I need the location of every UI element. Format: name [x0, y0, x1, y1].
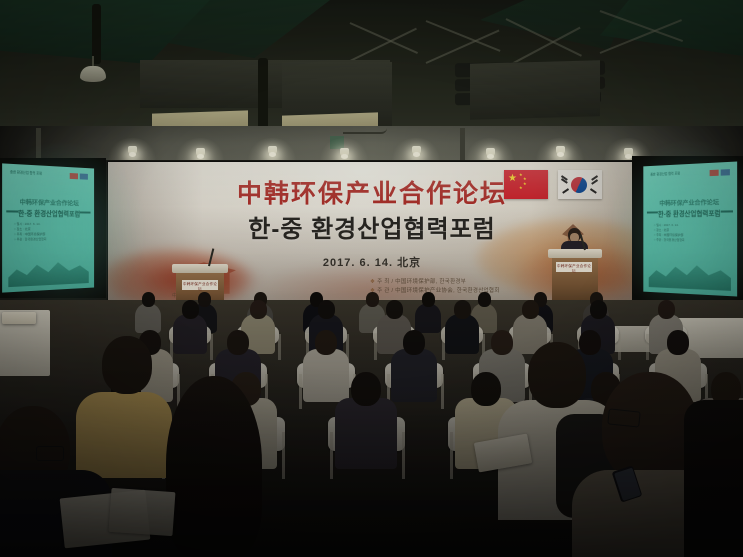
pendant-lamp-icon	[80, 66, 106, 82]
podium-left-plate: 中韩环保产业合作论坛	[182, 280, 218, 290]
audience-torso-yellow	[76, 392, 172, 478]
wall-cable	[343, 128, 387, 134]
audience-head	[102, 336, 152, 394]
ceiling-green-panel	[150, 0, 330, 58]
slide-flags	[70, 173, 88, 180]
audience-head	[658, 300, 675, 319]
slide-title-korean: 한-중 환경산업협력포럼	[643, 207, 737, 218]
audience-torso	[415, 303, 441, 333]
ceiling-pipe	[92, 4, 101, 64]
left-projection-screen: 중한 환경산업 협력 포럼 中韩环保产业合作论坛 한-중 환경산업협력포럼 ○ …	[2, 163, 94, 292]
audience-head	[315, 330, 337, 355]
slide-body-line: ○ 주관 : 한국환경산업협회	[654, 238, 685, 243]
audience-head	[366, 292, 379, 307]
slide-china-flag-icon	[710, 169, 719, 176]
slide-body: ○ 일시 : 2017. 6. 14. ○ 장소 : 北京 ○ 주최 : 中国环…	[14, 222, 46, 243]
air-duct	[470, 60, 600, 119]
slide-china-flag-icon	[70, 173, 78, 179]
audience-head	[667, 330, 689, 355]
glasses-icon	[36, 446, 64, 461]
audience-head	[579, 330, 601, 355]
chair-leg	[278, 334, 281, 360]
podium-right-top	[548, 249, 602, 258]
audience-head	[198, 292, 211, 307]
audience-torso	[303, 349, 349, 402]
audience-torso	[684, 400, 743, 557]
slide-illustration	[649, 254, 732, 291]
slide-header: 중한 환경산업 협력 포럼	[10, 170, 42, 177]
spotlight	[128, 146, 137, 154]
ceiling-strut	[350, 28, 417, 62]
audience-head	[422, 292, 435, 307]
slide-title-chinese: 中韩环保产业合作论坛	[2, 197, 94, 208]
audience-torso	[445, 314, 479, 353]
table-papers	[2, 312, 36, 324]
ceiling-pipe	[258, 58, 268, 136]
slide-illustration	[8, 252, 89, 287]
slide-body-line: ○ 주관 : 한국환경산업협회	[14, 237, 46, 243]
audience-head	[478, 292, 491, 307]
chair-leg	[299, 374, 302, 409]
chair-leg	[402, 432, 405, 479]
program-booklet	[109, 488, 176, 536]
slide-korea-flag-icon	[721, 169, 730, 176]
chair-leg	[450, 432, 453, 479]
spotlight	[556, 146, 565, 154]
audience-head	[318, 300, 335, 319]
audience-head	[590, 300, 607, 319]
audience-head	[182, 300, 199, 319]
audience-head	[522, 300, 539, 319]
spotlight	[624, 148, 633, 156]
audience-head	[491, 330, 513, 355]
ceiling-green-panel	[600, 0, 743, 68]
slide-title-korean: 한-중 환경산업협력포럼	[2, 207, 94, 218]
audience-head	[227, 330, 249, 355]
spotlight	[268, 146, 277, 154]
audience-head	[386, 300, 403, 319]
ceiling-strut	[350, 22, 418, 54]
chair-leg	[330, 432, 333, 479]
chair-leg	[282, 432, 285, 479]
audience-head	[403, 330, 425, 355]
slide-header: 중한 환경산업 협력 포럼	[650, 171, 680, 177]
audience-torso	[173, 314, 207, 353]
audience-head	[471, 372, 501, 406]
slide-flags	[710, 169, 730, 176]
audience-head	[351, 372, 381, 406]
audience-head	[454, 300, 471, 319]
audience-torso	[135, 303, 161, 333]
audience-head-long-hair	[166, 376, 262, 557]
slide-body: ○ 일시 : 2017. 6. 14. ○ 장소 : 北京 ○ 주최 : 中国环…	[654, 223, 685, 244]
audience-torso	[335, 398, 397, 469]
spotlight	[486, 148, 495, 156]
spotlight	[412, 146, 421, 154]
audience-torso	[391, 349, 437, 402]
wall-conduit	[460, 128, 465, 164]
right-projection-screen: 중한 환경산업 협력 포럼 中韩环保产业合作论坛 한-중 환경산업협력포럼 ○ …	[643, 162, 737, 297]
podium-right-plate: 中韩环保产业合作论坛	[556, 262, 592, 272]
spotlight	[340, 148, 349, 156]
slide-title-chinese: 中韩环保产业合作论坛	[643, 197, 737, 208]
conference-photo-scene: 中韩环保产业合作论坛 한-중 환경산업협력포럼 2017. 6. 14. 北京 …	[0, 0, 743, 557]
chair-leg	[210, 334, 213, 360]
audience-head	[142, 292, 155, 307]
spotlight	[196, 148, 205, 156]
chair-leg	[618, 334, 621, 360]
chair-leg	[441, 374, 444, 409]
audience-head	[250, 300, 267, 319]
slide-korea-flag-icon	[80, 174, 88, 180]
podium-left-top	[172, 264, 228, 273]
glasses-icon	[607, 408, 640, 427]
audience-head	[528, 342, 586, 408]
